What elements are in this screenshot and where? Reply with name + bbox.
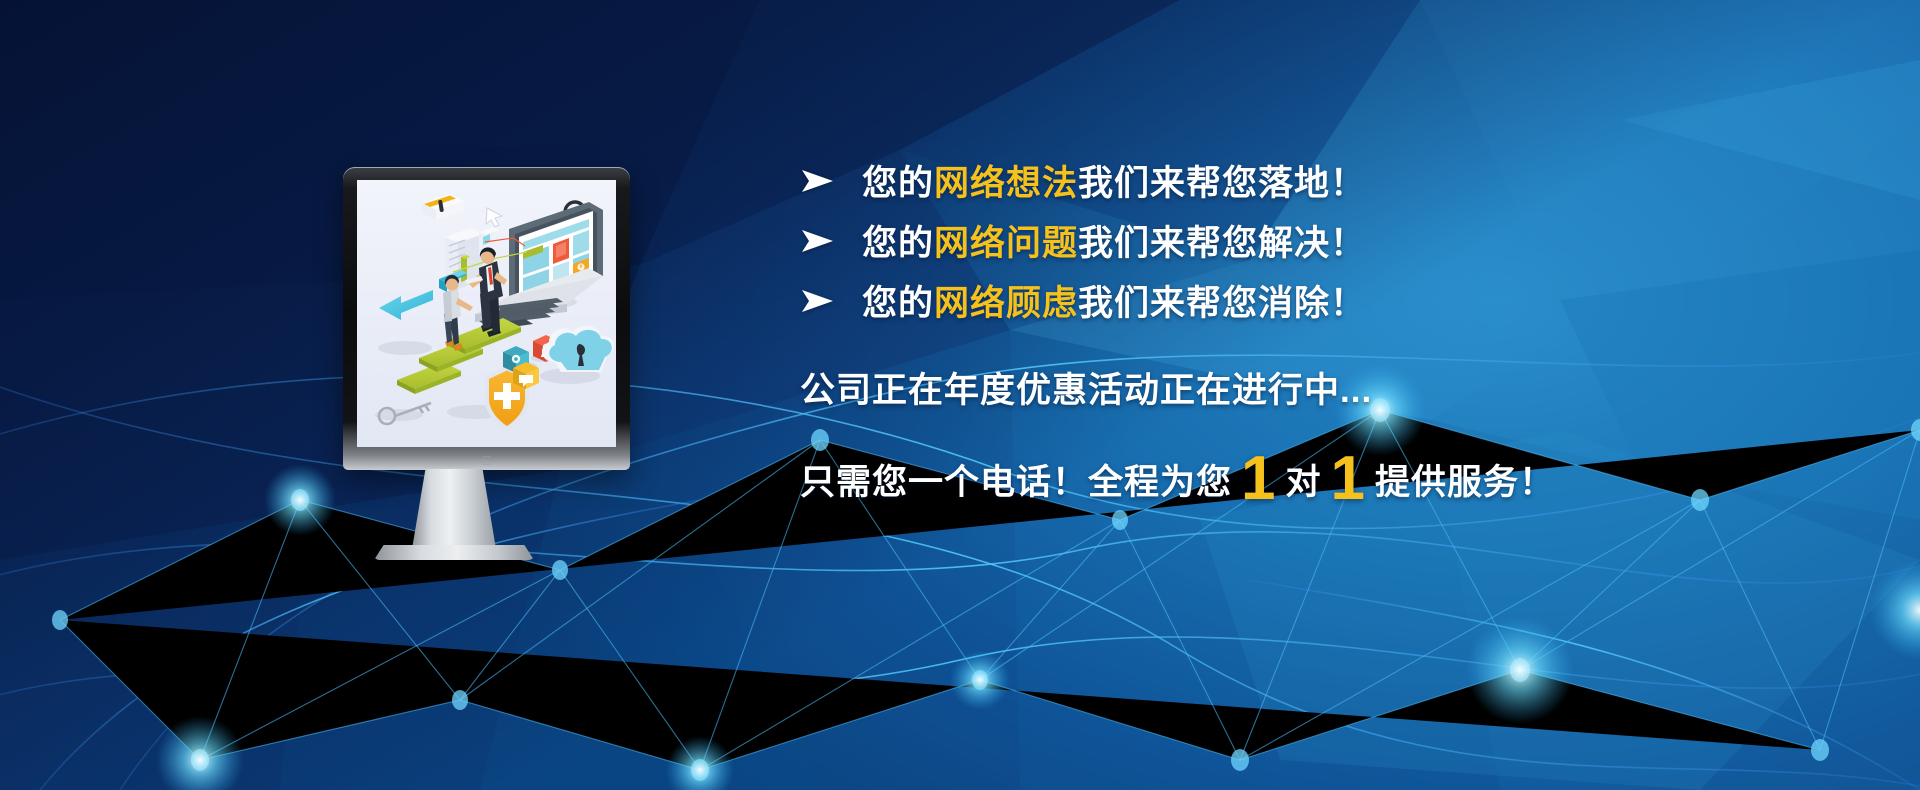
bullet-row-1: 您的网络想法我们来帮您落地！: [800, 150, 1860, 210]
apple-logo-icon: : [480, 454, 493, 468]
bullet-text-1: 您的网络想法我们来帮您落地！: [862, 155, 1366, 206]
bullet-1-post: 我们来帮您落地！: [1078, 164, 1366, 203]
monitor-stand-neck: [412, 469, 496, 549]
bullet-1-highlight: 网络想法: [934, 164, 1078, 203]
monitor-screen: [357, 180, 616, 447]
bullet-row-3: 您的网络顾虑我们来帮您消除！: [800, 270, 1860, 330]
cta-number-one-second: 1: [1331, 454, 1366, 504]
cta-part1: 只需您一个电话！全程为您: [800, 454, 1232, 505]
promo-banner:  您的网络想法我们来帮您落地！ 您的网络问题我们来帮您解决！ 您的网络顾虑我们…: [0, 0, 1920, 790]
arrow-bullet-icon: [800, 168, 834, 194]
bullet-2-highlight: 网络问题: [934, 224, 1078, 263]
monitor-bezel: : [343, 167, 630, 470]
arrow-bullet-icon: [800, 228, 834, 254]
isometric-security-illustration: [357, 180, 616, 447]
copy-block: 您的网络想法我们来帮您落地！ 您的网络问题我们来帮您解决！ 您的网络顾虑我们来帮…: [800, 150, 1860, 505]
arrow-bullet-icon: [800, 288, 834, 314]
bullet-3-pre: 您的: [862, 284, 934, 323]
promo-line: 公司正在年度优惠活动正在进行中...: [800, 362, 1860, 413]
cta-part2: 提供服务！: [1375, 454, 1555, 505]
bullet-row-2: 您的网络问题我们来帮您解决！: [800, 210, 1860, 270]
bullet-2-pre: 您的: [862, 224, 934, 263]
bullet-text-3: 您的网络顾虑我们来帮您消除！: [862, 275, 1366, 326]
bullet-text-2: 您的网络问题我们来帮您解决！: [862, 215, 1366, 266]
cta-middle: 对: [1286, 454, 1322, 505]
bullet-3-post: 我们来帮您消除！: [1078, 284, 1366, 323]
cta-number-one-first: 1: [1241, 454, 1276, 504]
monitor-stand-foot: [374, 545, 534, 560]
bullet-3-highlight: 网络顾虑: [934, 284, 1078, 323]
cta-line: 只需您一个电话！全程为您 1 对 1 提供服务！: [800, 449, 1860, 505]
bullet-1-pre: 您的: [862, 164, 934, 203]
monitor-graphic: : [278, 135, 630, 460]
bullet-2-post: 我们来帮您解决！: [1078, 224, 1366, 263]
